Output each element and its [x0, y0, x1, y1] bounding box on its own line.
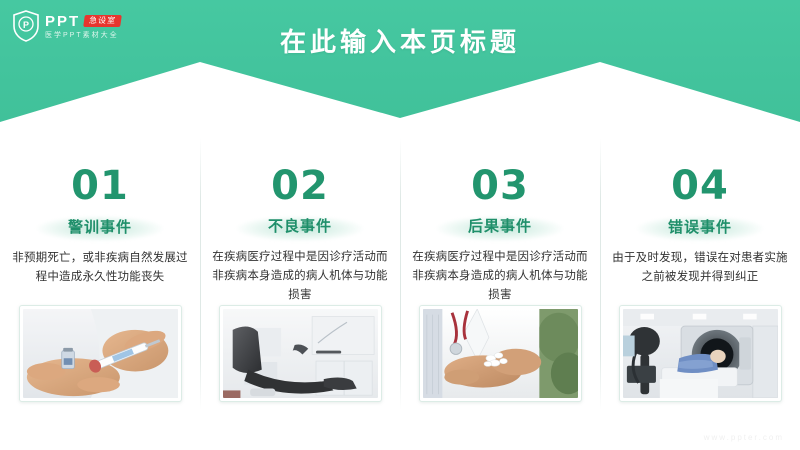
- column-photo-frame: [419, 305, 582, 402]
- column-photo-frame: [219, 305, 382, 402]
- hand-holding-vaccine-vial-and-syringe-photo: [23, 309, 178, 398]
- logo-badge: 急设室: [83, 15, 122, 27]
- svg-text:P: P: [23, 20, 29, 30]
- column-subtitle: 后果事件: [468, 215, 532, 236]
- footer-watermark: www.ppter.com: [704, 433, 784, 442]
- column-subtitle-area: 后果事件: [410, 213, 590, 238]
- column-subtitle: 错误事件: [668, 216, 732, 237]
- doctor-holding-pills-in-hands-photo: [423, 309, 578, 398]
- column-number: 04: [671, 166, 729, 206]
- column-description: 由于及时发现，错误在对患者实施之前被发现并得到纠正: [612, 249, 788, 287]
- column-subtitle-area: 错误事件: [610, 213, 790, 239]
- column-photo-frame: [19, 305, 182, 402]
- column-number: 03: [471, 166, 529, 206]
- content-column-01: 01 警训事件 非预期死亡，或非疾病自然发展过程中造成永久性功能丧失: [0, 150, 200, 430]
- dental-treatment-chair-photo: [223, 309, 378, 398]
- column-photo-frame: [619, 305, 782, 402]
- content-columns: 01 警训事件 非预期死亡，或非疾病自然发展过程中造成永久性功能丧失: [0, 150, 800, 430]
- column-description: 在疾病医疗过程中是因诊疗活动而非疾病本身造成的病人机体与功能损害: [212, 248, 388, 305]
- column-description: 非预期死亡，或非疾病自然发展过程中造成永久性功能丧失: [12, 249, 188, 287]
- column-subtitle-area: 警训事件: [10, 213, 190, 239]
- brand-logo: P PPT 急设室 医学PPT素材大全: [12, 8, 121, 44]
- logo-tagline: 医学PPT素材大全: [45, 32, 121, 39]
- column-number: 01: [71, 166, 129, 206]
- column-number: 02: [271, 166, 329, 206]
- column-subtitle: 不良事件: [268, 215, 332, 236]
- column-description: 在疾病医疗过程中是因诊疗活动而非疾病本身造成的病人机体与功能损害: [412, 248, 588, 305]
- column-subtitle-area: 不良事件: [210, 213, 390, 238]
- content-column-04: 04 错误事件 由于及时发现，错误在对患者实施之前被发现并得到纠正: [600, 150, 800, 430]
- column-subtitle: 警训事件: [68, 216, 132, 237]
- ct-scanner-with-patient-photo: [623, 309, 778, 398]
- logo-brand-text: PPT: [45, 14, 80, 29]
- slide-canvas: 在此输入本页标题 P PPT 急设室 医学PPT素材大全 01 警训事件: [0, 0, 800, 450]
- content-column-02: 02 不良事件 在疾病医疗过程中是因诊疗活动而非疾病本身造成的病人机体与功能损害: [200, 150, 400, 430]
- shield-icon: P: [12, 10, 40, 42]
- content-column-03: 03 后果事件 在疾病医疗过程中是因诊疗活动而非疾病本身造成的病人机体与功能损害: [400, 150, 600, 430]
